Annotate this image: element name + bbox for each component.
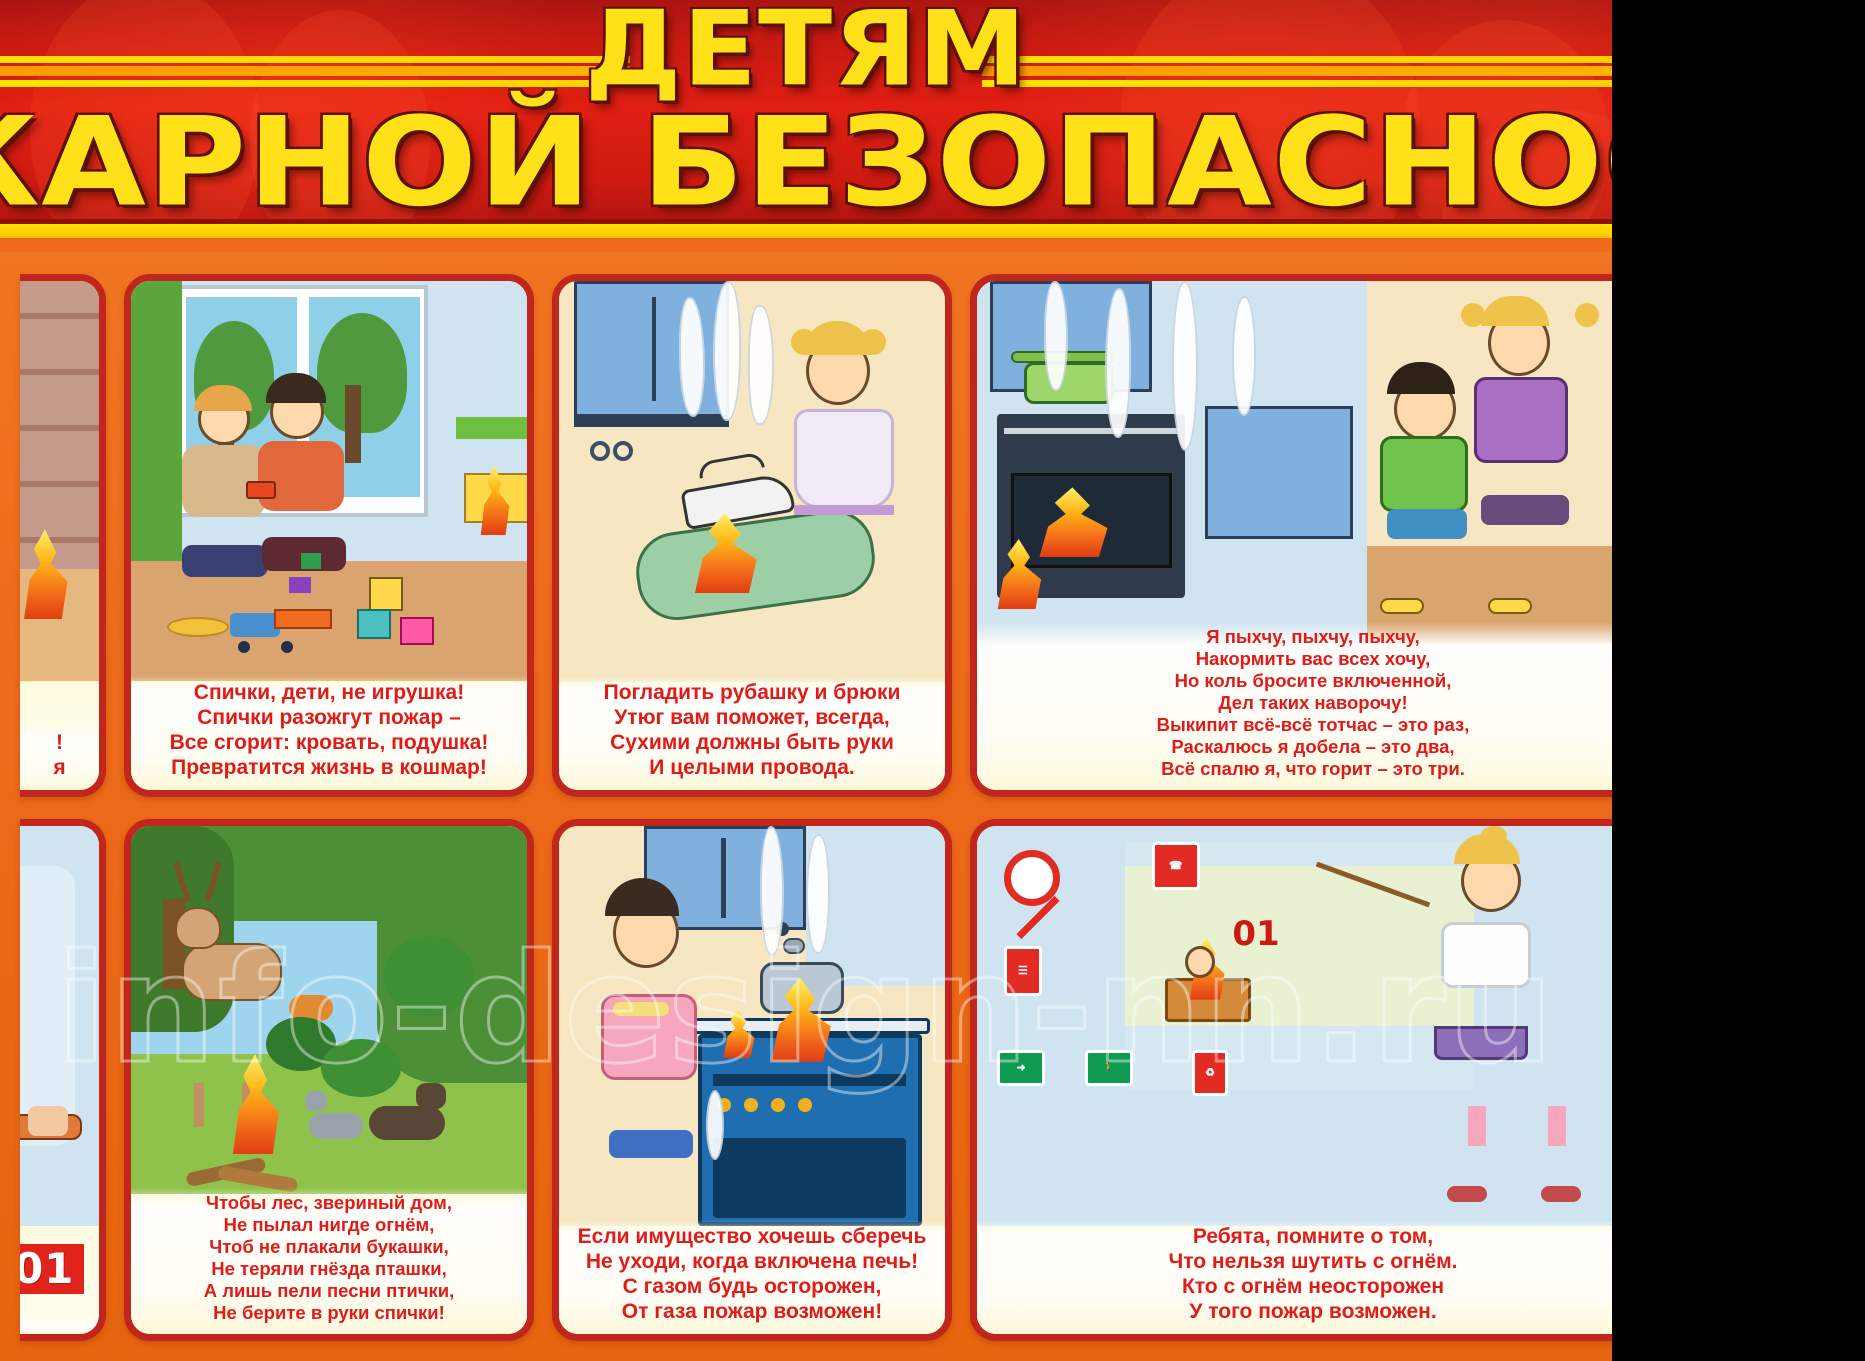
card-partial-left-top[interactable]: ! я [20,274,106,797]
illustration-burning-ironing-board [559,281,945,682]
caption-line: Не уходи, когда включена печь! [567,1249,937,1274]
card-caption: Я пыхчу, пыхчу, пыхчу, Накормить вас все… [977,622,1612,790]
card-grid: ! я [20,274,1592,1341]
card-gas-stove[interactable]: Если имущество хочешь сберечь Не уходи, … [552,819,952,1342]
caption-line: Превратится жизнь в кошмар! [139,755,519,780]
caption-line: С газом будь осторожен, [567,1274,937,1299]
illustration-burning-gas-stove [559,826,945,1227]
illustration-boy-with-extinguisher [20,826,99,1227]
caption-line: Сухими должны быть руки [567,730,937,755]
card-caption: ! я [20,726,99,790]
caption-line: Дел таких наворочу! [985,692,1612,714]
card-caption: Если имущество хочешь сберечь Не уходи, … [559,1220,945,1334]
caption-line: ! [28,730,91,755]
caption-line: У того пожар возможен. [985,1299,1612,1324]
illustration-children-playing-with-matches [131,281,527,682]
card-safety-signs[interactable]: ☎ 01 ☰ ➜ 🚶 ♻ [970,819,1612,1342]
card-forest-fire[interactable]: Чтобы лес, звериный дом, Не пылал нигде … [124,819,534,1342]
letterbox-padding [1612,0,1865,1361]
caption-line: я [28,755,91,780]
caption-line: Чтобы лес, звериный дом, [139,1192,519,1214]
caption-line: Погладить рубашку и брюки [567,680,937,705]
fire-hose-sign: ☰ [1004,946,1042,996]
card-caption [20,1320,99,1334]
caption-line: Все сгорит: кровать, подушка! [139,730,519,755]
caption-line: Ребята, помните о том, [985,1224,1612,1249]
poster-header: ДЕТЯМ ОЖАРНОЙ БЕЗОПАСНОСТИ [0,0,1612,238]
card-caption: Чтобы лес, звериный дом, Не пылал нигде … [131,1188,527,1334]
caption-line: Если имущество хочешь сберечь [567,1224,937,1249]
card-caption: Погладить рубашку и брюки Утюг вам помож… [559,676,945,790]
caption-line: Чтоб не плакали букашки, [139,1236,519,1258]
caption-line: Я пыхчу, пыхчу, пыхчу, [985,626,1612,648]
caption-line: Накормить вас всех хочу, [985,648,1612,670]
fire-safety-poster: ДЕТЯМ ОЖАРНОЙ БЕЗОПАСНОСТИ [0,0,1612,1361]
card-caption: Ребята, помните о том, Что нельзя шутить… [977,1220,1612,1334]
caption-line: Но коль бросите включенной, [985,670,1612,692]
caption-line: А лишь пели песни птички, [139,1280,519,1302]
caption-line: Не берите в руки спички! [139,1302,519,1324]
caption-line: Спички разожгут пожар – [139,705,519,730]
caption-line: Что нельзя шутить с огнём. [985,1249,1612,1274]
caption-line: Не пылал нигде огнём, [139,1214,519,1236]
exit-run-sign: 🚶 [1085,1050,1133,1086]
caption-line: Раскалюсь я добела – это два, [985,736,1612,758]
caption-line: Спички, дети, не игрушка! [139,680,519,705]
caption-line: Утюг вам поможет, всегда, [567,705,937,730]
illustration-children-fleeing-burning-stove [977,281,1612,650]
fire-phone-sign: ☎ [1152,842,1200,890]
illustration-girl-with-safety-signs: ☎ 01 ☰ ➜ 🚶 ♻ [977,826,1612,1227]
card-stove-kettle[interactable]: Я пыхчу, пыхчу, пыхчу, Накормить вас все… [970,274,1612,797]
poster-title-line-1: ДЕТЯМ [0,0,1612,104]
extinguisher-sign: ♻ [1192,1050,1228,1096]
illustration-brick-wall-fire [20,281,99,682]
caption-line: От газа пожар возможен! [567,1299,937,1324]
card-partial-left-bottom[interactable]: 01 [20,819,106,1342]
exit-sign: ➜ [997,1050,1045,1086]
caption-line: Не теряли гнёзда пташки, [139,1258,519,1280]
emergency-number-badge: 01 [20,1244,84,1294]
card-caption: Спички, дети, не игрушка! Спички разожгу… [131,676,527,790]
caption-line: Выкипит всё-всё тотчас – это раз, [985,714,1612,736]
illustration-forest-animals-campfire [131,826,527,1195]
card-iron[interactable]: Погладить рубашку и брюки Утюг вам помож… [552,274,952,797]
emergency-number-text: 01 [1232,914,1279,954]
poster-title-line-2: ОЖАРНОЙ БЕЗОПАСНОСТИ [0,98,1612,225]
caption-line: И целыми провода. [567,755,937,780]
caption-line: Кто с огнём неосторожен [985,1274,1612,1299]
card-matches-toys[interactable]: Спички, дети, не игрушка! Спички разожгу… [124,274,534,797]
poster-board: ! я [0,252,1612,1361]
header-divider-yellow [0,224,1612,238]
caption-line: Всё спалю я, что горит – это три. [985,758,1612,780]
